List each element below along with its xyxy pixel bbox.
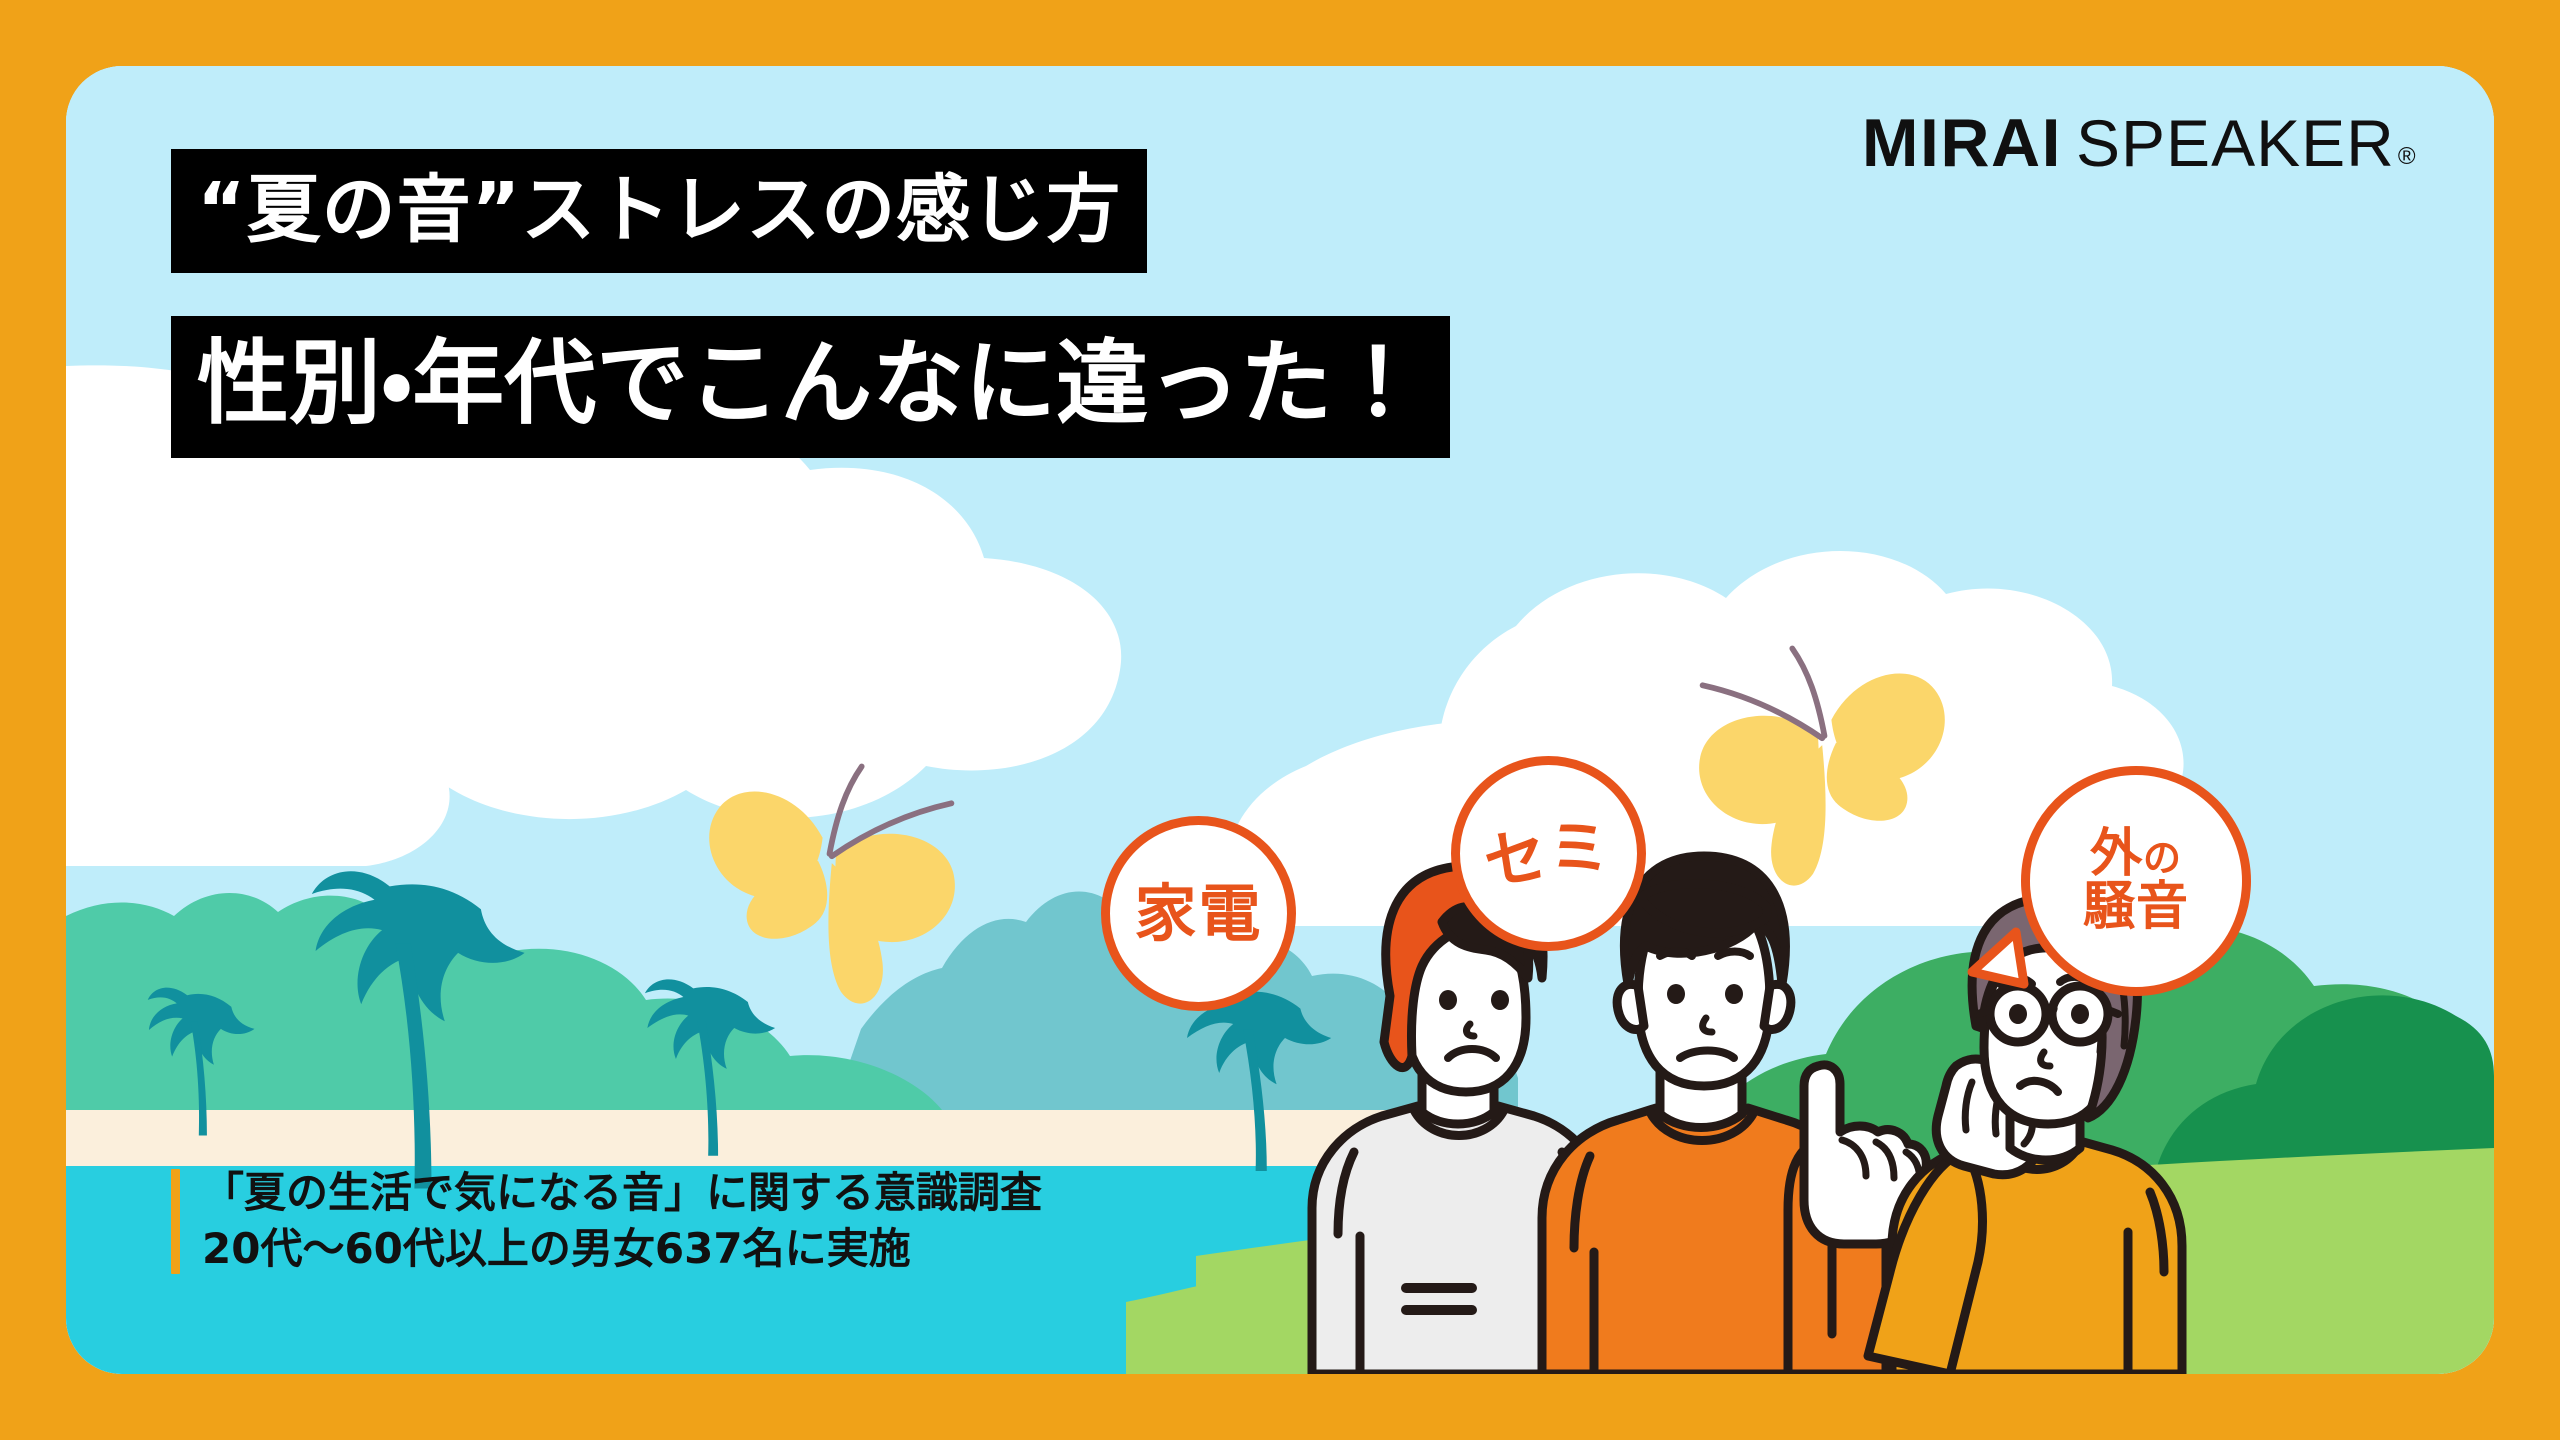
caption-line-2: 20代〜60代以上の男女637名に実施: [202, 1225, 1042, 1274]
registered-mark-icon: ®: [2398, 143, 2416, 171]
inner-panel: MIRAI SPEAKER ® “夏の音”ストレスの感じ方 性別・年代でこんなに…: [66, 66, 2494, 1374]
headline-line-1: “夏の音”ストレスの感じ方: [171, 149, 1147, 273]
speech-bubble-semi-body: セミ: [1451, 756, 1646, 951]
brand-logo: MIRAI SPEAKER ®: [1862, 104, 2416, 182]
speech-bubble-kaden-text: 家電: [1134, 882, 1262, 945]
caption-accent-rule: [171, 1169, 180, 1274]
gaionoise-line-2: 騒音: [2083, 881, 2189, 934]
gaionoise-line-1-sub: の: [2143, 836, 2182, 880]
gaionoise-line-1: 外の: [2083, 828, 2189, 881]
gaionoise-line-1-main: 外: [2090, 824, 2143, 884]
logo-primary-text: MIRAI: [1862, 104, 2062, 182]
headline-line-2: 性別・年代でこんなに違った！: [171, 316, 1450, 458]
poster-canvas: MIRAI SPEAKER ® “夏の音”ストレスの感じ方 性別・年代でこんなに…: [0, 0, 2560, 1440]
headline-line-2-wrapper: 性別・年代でこんなに違った！: [171, 316, 1450, 458]
speech-bubble-gaionoise-text: 外の 騒音: [2083, 828, 2189, 934]
speech-bubble-gaionoise-body: 外の 騒音: [2021, 766, 2251, 996]
speech-bubble-kaden: 家電: [1101, 816, 1296, 1011]
logo-secondary-text: SPEAKER: [2076, 105, 2395, 181]
speech-bubble-kaden-body: 家電: [1101, 816, 1296, 1011]
speech-bubble-gaionoise: 外の 騒音: [2021, 766, 2251, 996]
survey-caption: 「夏の生活で気になる音」に関する意識調査 20代〜60代以上の男女637名に実施: [171, 1169, 1042, 1274]
headline-line-1-wrapper: “夏の音”ストレスの感じ方: [171, 149, 1147, 273]
speech-bubble-semi-text: セミ: [1480, 812, 1616, 894]
caption-line-1: 「夏の生活で気になる音」に関する意識調査: [202, 1169, 1042, 1218]
caption-lines: 「夏の生活で気になる音」に関する意識調査 20代〜60代以上の男女637名に実施: [202, 1169, 1042, 1274]
speech-bubble-semi: セミ: [1451, 756, 1646, 951]
